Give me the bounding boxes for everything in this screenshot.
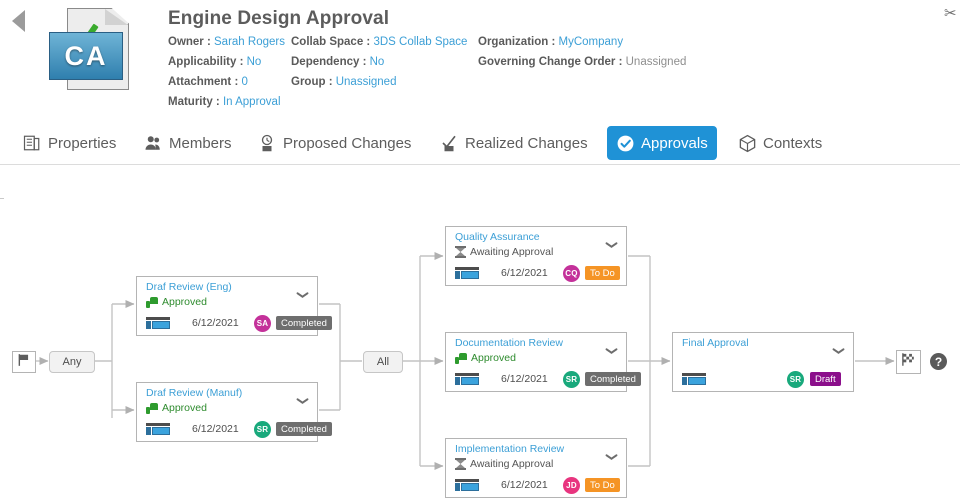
chevron-down-icon[interactable]	[296, 398, 309, 406]
tab-label: Realized Changes	[465, 135, 588, 152]
members-icon	[144, 134, 162, 152]
node-status: Approved	[455, 352, 516, 364]
node-status-label: Approved	[471, 352, 516, 364]
meta-value[interactable]: Unassigned	[336, 76, 397, 88]
change-action-document-icon: CA	[45, 8, 145, 90]
route-node-final-approval[interactable]: Final ApprovalSRDraft	[672, 332, 854, 392]
tab-label: Members	[169, 135, 232, 152]
meta-key: Attachment :	[168, 76, 238, 88]
contexts-cube-icon	[738, 134, 756, 152]
meta-value[interactable]: MyCompany	[559, 36, 624, 48]
meta-group: Group : Unassigned	[291, 76, 396, 89]
node-title: Documentation Review	[455, 337, 563, 349]
node-status: Approved	[146, 296, 207, 308]
approval-route-diagram: AnyAll?Draf Review (Eng)Approved6/12/202…	[0, 172, 960, 504]
doc-icon-label: CA	[49, 32, 123, 80]
chevron-down-icon[interactable]	[605, 348, 618, 356]
route-node-draf-review-eng[interactable]: Draf Review (Eng)Approved6/12/2021SAComp…	[136, 276, 318, 336]
node-title: Draf Review (Eng)	[146, 281, 232, 293]
record-header: CA Engine Design Approval Owner : Sarah …	[0, 0, 960, 120]
node-status: Approved	[146, 402, 207, 414]
status-badge: To Do	[585, 266, 620, 280]
tab-contexts[interactable]: Contexts	[729, 126, 831, 160]
approvals-check-icon	[616, 134, 634, 152]
route-node-draf-review-manuf[interactable]: Draf Review (Manuf)Approved6/12/2021SRCo…	[136, 382, 318, 442]
node-title: Quality Assurance	[455, 231, 540, 243]
meta-key: Owner :	[168, 36, 211, 48]
avatar[interactable]: SR	[254, 421, 271, 438]
assignee-card-icon	[146, 317, 170, 330]
node-footer: 6/12/2021SRCompleted	[146, 421, 311, 439]
meta-collab-space: Collab Space : 3DS Collab Space	[291, 36, 467, 49]
hourglass-icon	[455, 246, 466, 258]
node-footer: 6/12/2021SACompleted	[146, 315, 311, 333]
status-badge: Completed	[276, 316, 332, 330]
node-status: Awaiting Approval	[455, 246, 553, 258]
gateway-all[interactable]: All	[363, 351, 403, 373]
chevron-down-icon[interactable]	[605, 242, 618, 250]
avatar[interactable]: JD	[563, 477, 580, 494]
tab-bar: PropertiesMembersProposed ChangesRealize…	[0, 122, 960, 165]
flag-icon	[17, 353, 31, 372]
meta-attachment: Attachment : 0	[168, 76, 248, 89]
meta-organization: Organization : MyCompany	[478, 36, 623, 49]
node-date: 6/12/2021	[192, 317, 239, 329]
assignee-card-icon	[455, 479, 479, 492]
node-date: 6/12/2021	[501, 267, 548, 279]
meta-value[interactable]: No	[370, 56, 385, 68]
chevron-down-icon[interactable]	[296, 292, 309, 300]
meta-key: Governing Change Order :	[478, 56, 622, 68]
meta-key: Collab Space :	[291, 36, 370, 48]
meta-key: Organization :	[478, 36, 555, 48]
meta-applicability: Applicability : No	[168, 56, 261, 69]
assignee-card-icon	[146, 423, 170, 436]
meta-value[interactable]: In Approval	[223, 96, 281, 108]
tab-label: Approvals	[641, 135, 708, 152]
assignee-card-icon	[682, 373, 706, 386]
node-status-label: Awaiting Approval	[470, 246, 553, 258]
corner-partial-icon[interactable]: ✂	[944, 4, 960, 26]
node-status-label: Approved	[162, 402, 207, 414]
avatar[interactable]: SR	[787, 371, 804, 388]
checkered-flag-icon	[901, 352, 916, 372]
node-footer: 6/12/2021SRCompleted	[455, 371, 620, 389]
status-badge: Completed	[276, 422, 332, 436]
node-footer: SRDraft	[682, 371, 847, 389]
node-title: Final Approval	[682, 337, 749, 349]
realized-changes-icon	[440, 134, 458, 152]
avatar[interactable]: SA	[254, 315, 271, 332]
node-footer: 6/12/2021CQTo Do	[455, 265, 620, 283]
meta-governing-change-order: Governing Change Order : Unassigned	[478, 56, 686, 69]
meta-owner: Owner : Sarah Rogers	[168, 36, 285, 49]
node-title: Draf Review (Manuf)	[146, 387, 242, 399]
left-edge-tick	[0, 198, 4, 199]
route-node-documentation-review[interactable]: Documentation ReviewApproved6/12/2021SRC…	[445, 332, 627, 392]
gateway-any[interactable]: Any	[49, 351, 95, 373]
meta-key: Dependency :	[291, 56, 366, 68]
node-status-label: Approved	[162, 296, 207, 308]
avatar[interactable]: CQ	[563, 265, 580, 282]
route-node-quality-assurance[interactable]: Quality AssuranceAwaiting Approval6/12/2…	[445, 226, 627, 286]
end-flag[interactable]	[896, 350, 921, 374]
tab-label: Properties	[48, 135, 116, 152]
back-arrow-icon[interactable]	[12, 10, 25, 32]
tab-label: Contexts	[763, 135, 822, 152]
meta-key: Applicability :	[168, 56, 243, 68]
tab-approvals[interactable]: Approvals	[607, 126, 717, 160]
hourglass-icon	[455, 458, 466, 470]
node-status-label: Awaiting Approval	[470, 458, 553, 470]
meta-value[interactable]: Sarah Rogers	[214, 36, 285, 48]
status-badge: Completed	[585, 372, 641, 386]
properties-icon	[23, 134, 41, 152]
chevron-down-icon[interactable]	[605, 454, 618, 462]
thumbs-up-icon	[146, 297, 158, 308]
node-date: 6/12/2021	[501, 479, 548, 491]
node-footer: 6/12/2021JDTo Do	[455, 477, 620, 495]
node-status: Awaiting Approval	[455, 458, 553, 470]
route-node-implementation-review[interactable]: Implementation ReviewAwaiting Approval6/…	[445, 438, 627, 498]
thumbs-up-icon	[455, 353, 467, 364]
thumbs-up-icon	[146, 403, 158, 414]
node-date: 6/12/2021	[192, 423, 239, 435]
tab-members[interactable]: Members	[135, 126, 241, 160]
meta-value[interactable]: No	[247, 56, 262, 68]
meta-key: Group :	[291, 76, 333, 88]
node-title: Implementation Review	[455, 443, 564, 455]
meta-dependency: Dependency : No	[291, 56, 384, 69]
node-date: 6/12/2021	[501, 373, 548, 385]
meta-value[interactable]: 0	[241, 76, 247, 88]
chevron-down-icon[interactable]	[832, 348, 845, 356]
assignee-card-icon	[455, 373, 479, 386]
status-badge: Draft	[810, 372, 841, 386]
tab-properties[interactable]: Properties	[14, 126, 125, 160]
tab-realized-changes[interactable]: Realized Changes	[431, 126, 597, 160]
status-badge: To Do	[585, 478, 620, 492]
proposed-changes-icon	[258, 134, 276, 152]
meta-value[interactable]: 3DS Collab Space	[373, 36, 467, 48]
help-icon[interactable]: ?	[930, 353, 947, 370]
meta-value: Unassigned	[626, 56, 687, 68]
meta-maturity: Maturity : In Approval	[168, 96, 281, 109]
tab-label: Proposed Changes	[283, 135, 411, 152]
avatar[interactable]: SR	[563, 371, 580, 388]
tab-proposed-changes[interactable]: Proposed Changes	[249, 126, 420, 160]
start-flag[interactable]	[12, 351, 36, 373]
page-title: Engine Design Approval	[168, 8, 389, 30]
assignee-card-icon	[455, 267, 479, 280]
meta-key: Maturity :	[168, 96, 220, 108]
